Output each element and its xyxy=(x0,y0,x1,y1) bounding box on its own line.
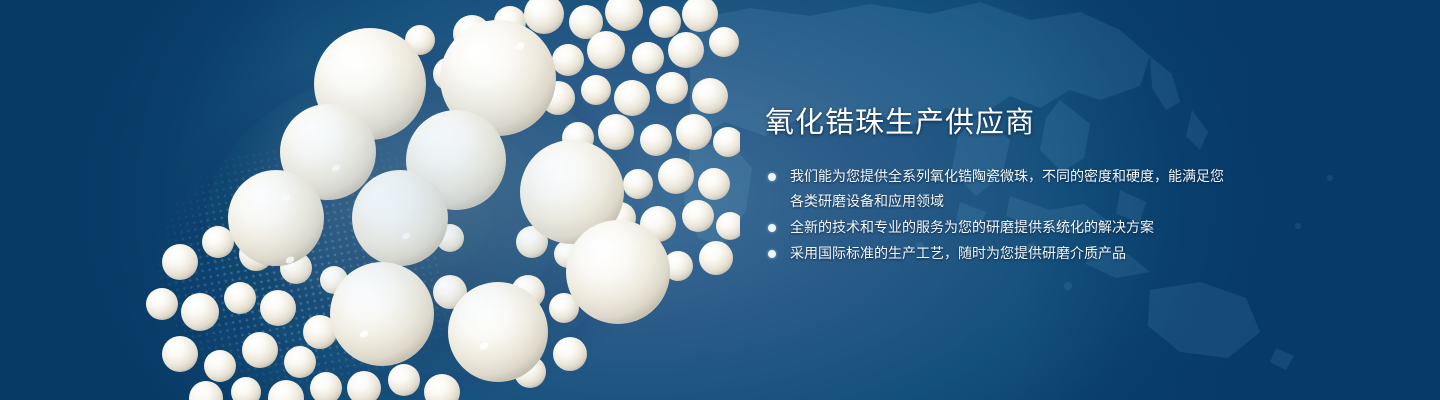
banner-feature-list: 我们能为您提供全系列氧化锆陶瓷微珠，不同的密度和硬度，能满足您各类研磨设备和应用… xyxy=(765,164,1235,266)
list-item: 我们能为您提供全系列氧化锆陶瓷微珠，不同的密度和硬度，能满足您各类研磨设备和应用… xyxy=(765,164,1235,214)
circle-bullet-icon xyxy=(768,250,776,258)
circle-bullet-icon xyxy=(768,173,776,181)
hero-banner: 氧化锆珠生产供应商 我们能为您提供全系列氧化锆陶瓷微珠，不同的密度和硬度，能满足… xyxy=(0,0,1440,400)
banner-headline: 氧化锆珠生产供应商 xyxy=(765,104,1235,142)
list-item-label: 采用国际标准的生产工艺，随时为您提供研磨介质产品 xyxy=(790,241,1235,266)
zirconia-bead-cluster-image xyxy=(120,0,740,400)
circle-bullet-icon xyxy=(768,224,776,232)
list-item-label: 全新的技术和专业的服务为您的研磨提供系统化的解决方案 xyxy=(790,215,1235,240)
list-item: 采用国际标准的生产工艺，随时为您提供研磨介质产品 xyxy=(765,241,1235,266)
banner-text-block: 氧化锆珠生产供应商 我们能为您提供全系列氧化锆陶瓷微珠，不同的密度和硬度，能满足… xyxy=(765,104,1235,267)
list-item: 全新的技术和专业的服务为您的研磨提供系统化的解决方案 xyxy=(765,215,1235,240)
list-item-label: 我们能为您提供全系列氧化锆陶瓷微珠，不同的密度和硬度，能满足您各类研磨设备和应用… xyxy=(790,164,1235,214)
